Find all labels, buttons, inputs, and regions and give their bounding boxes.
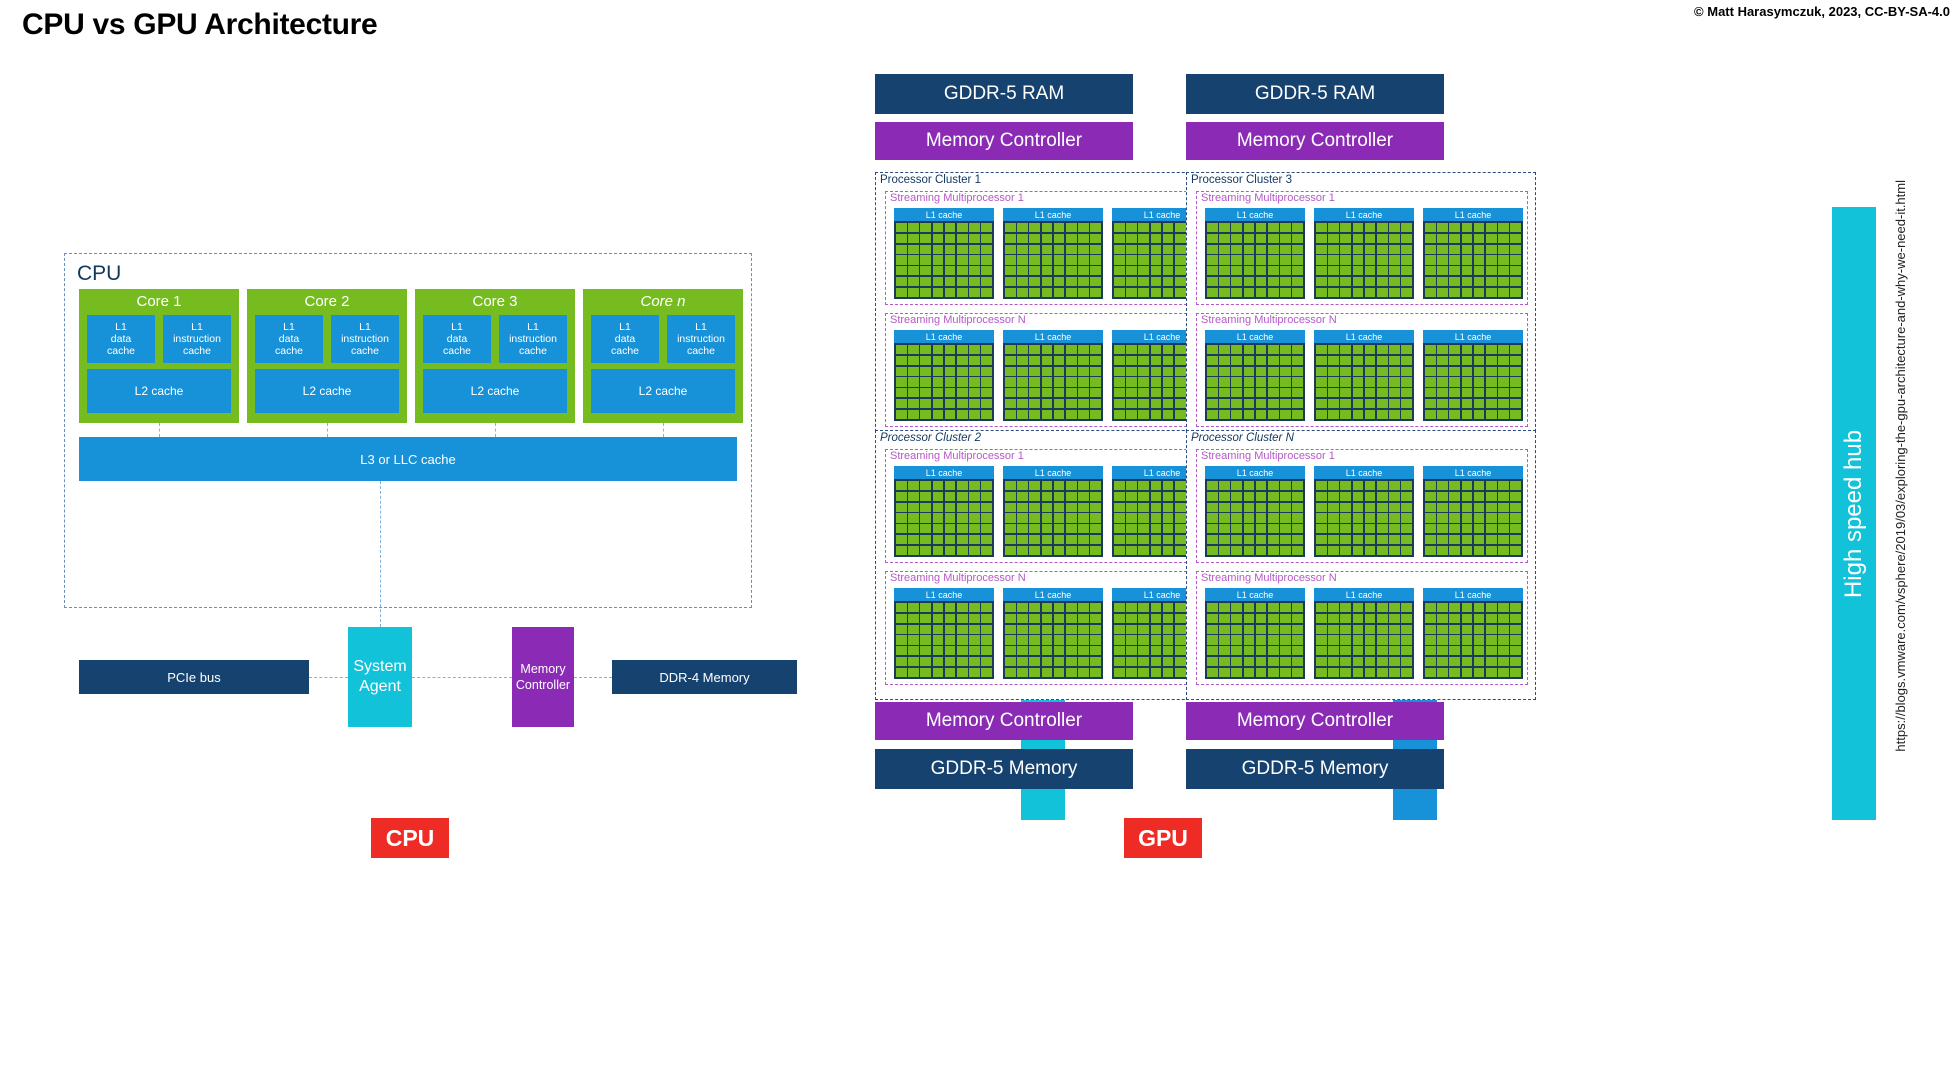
gpu-core-cell: [933, 603, 944, 612]
gpu-core-cell: [1175, 603, 1186, 612]
gpu-core-cell: [1316, 503, 1327, 512]
cpu-l3-to-agent-connector: [380, 481, 381, 627]
gpu-core-cell: [920, 388, 931, 397]
gpu-core-cell: [1449, 513, 1460, 522]
gpu-core-cell: [1280, 614, 1291, 623]
gpu-core-cell: [1401, 513, 1412, 522]
gpu-core-cell: [1268, 377, 1279, 386]
gpu-core-cell: [1316, 492, 1327, 501]
gpu-core-cell: [1207, 345, 1218, 354]
gpu-core-cell: [1231, 546, 1242, 555]
gpu-core-cell: [1138, 513, 1149, 522]
gpu-core-cell: [1219, 367, 1230, 376]
gpu-core-cell: [1126, 245, 1137, 254]
gpu-core-cell: [1510, 399, 1521, 408]
gpu-core-cell: [1029, 646, 1040, 655]
gpu-core-cell: [1042, 524, 1053, 533]
gpu-core-cell: [1042, 288, 1053, 297]
gpu-core-cell: [1042, 377, 1053, 386]
gpu-core-cell: [957, 513, 968, 522]
gpu-core-cell: [1138, 266, 1149, 275]
gpu-core-cell: [896, 603, 907, 612]
gpu-core-cell: [1029, 245, 1040, 254]
gpu-core-cell: [1054, 277, 1065, 286]
gpu-core-cell: [969, 234, 980, 243]
gpu-core-cell: [1280, 245, 1291, 254]
gpu-core-cell: [1462, 367, 1473, 376]
gpu-core-cell: [1090, 614, 1101, 623]
gpu-core-cell: [1268, 614, 1279, 623]
gpu-core-cell: [1151, 399, 1162, 408]
gpu-core-cell: [1126, 399, 1137, 408]
gpu-core-cell: [1231, 635, 1242, 644]
gpu-core-cell: [1231, 614, 1242, 623]
gpu-core-cell: [1090, 288, 1101, 297]
gpu-core-cell: [1244, 614, 1255, 623]
gpu-core-cell: [1340, 481, 1351, 490]
gpu-core-cell: [1138, 614, 1149, 623]
gpu-core-cell: [1138, 356, 1149, 365]
gpu-core-cell: [1353, 388, 1364, 397]
gpu-core-cell: [1017, 524, 1028, 533]
gpu-core-cell: [1256, 277, 1267, 286]
gpu-core-cell: [1328, 255, 1339, 264]
gpu-core-cell: [1437, 410, 1448, 419]
gpu-core-cell: [1316, 345, 1327, 354]
gpu-core-cell: [1090, 255, 1101, 264]
page-title: CPU vs GPU Architecture: [22, 8, 377, 42]
gpu-core-cell: [908, 657, 919, 666]
gpu-core-cell: [1126, 223, 1137, 232]
gpu-core-cell: [945, 635, 956, 644]
gpu-core-cell: [908, 481, 919, 490]
gpu-core-cell: [1437, 234, 1448, 243]
gpu-core-cell: [969, 492, 980, 501]
gpu-core-cell: [1353, 614, 1364, 623]
gpu-l1-cache: L1 cache: [1423, 466, 1523, 479]
gpu-core-cell: [1078, 234, 1089, 243]
gpu-core-cell: [920, 513, 931, 522]
gpu-core-cell: [1219, 399, 1230, 408]
gpu-core-cell: [1244, 245, 1255, 254]
gpu-core-cell: [1389, 245, 1400, 254]
gpu-core-cell: [1114, 399, 1125, 408]
gpu-streaming-multiprocessor-1: Streaming Multiprocessor 1L1 cacheL1 cac…: [885, 449, 1217, 563]
gpu-core-cell: [1175, 277, 1186, 286]
gpu-core-cell: [957, 367, 968, 376]
gpu-streaming-multiprocessor-1: Streaming Multiprocessor 1L1 cacheL1 cac…: [1196, 191, 1528, 305]
gpu-l1-cache: L1 cache: [1003, 588, 1103, 601]
gpu-core-cell: [1090, 277, 1101, 286]
gpu-core-cell: [945, 503, 956, 512]
gpu-core-cell: [1042, 535, 1053, 544]
gpu-core-cell: [1078, 266, 1089, 275]
gpu-core-block: L1 cache: [1003, 208, 1103, 299]
gpu-core-cell: [1151, 223, 1162, 232]
gpu-core-cell: [1005, 524, 1016, 533]
gpu-core-cell: [1353, 668, 1364, 677]
gpu-core-cell: [1163, 503, 1174, 512]
gpu-core-cell: [1498, 503, 1509, 512]
gpu-cluster-label: Processor Cluster N: [1191, 432, 1294, 444]
gpu-core-cell: [1268, 492, 1279, 501]
gpu-core-cell: [920, 410, 931, 419]
gpu-core-cell: [1151, 614, 1162, 623]
gpu-core-cell: [1207, 266, 1218, 275]
gpu-core-cell: [1389, 503, 1400, 512]
gpu-core-cell: [1401, 625, 1412, 634]
gpu-core-cell: [1268, 367, 1279, 376]
gpu-core-cell: [1114, 277, 1125, 286]
gpu-core-cell: [1328, 377, 1339, 386]
gpu-core-cell: [1231, 625, 1242, 634]
gpu-core-cell: [1256, 657, 1267, 666]
gpu-core-cell: [1114, 503, 1125, 512]
gpu-sm-label: Streaming Multiprocessor 1: [890, 450, 1024, 462]
gpu-core-cell: [1090, 513, 1101, 522]
gpu-core-cell: [1449, 503, 1460, 512]
gpu-core-cell: [1340, 234, 1351, 243]
gpu-core-cell: [1090, 234, 1101, 243]
gpu-core-cell: [1292, 277, 1303, 286]
gpu-core-cell: [1114, 646, 1125, 655]
gpu-core-cell: [1175, 535, 1186, 544]
gpu-cluster-label: Processor Cluster 2: [880, 432, 981, 444]
gpu-core-cell: [1449, 255, 1460, 264]
gpu-core-cell: [1017, 614, 1028, 623]
gpu-core-cell: [1377, 657, 1388, 666]
gpu-core-cell: [1510, 245, 1521, 254]
gpu-core-cell: [908, 345, 919, 354]
gpu-core-cell: [957, 546, 968, 555]
gpu-core-cell: [1486, 524, 1497, 533]
gpu-core-cell: [1486, 614, 1497, 623]
gpu-core-cell: [1449, 288, 1460, 297]
gpu-core-cell: [1498, 266, 1509, 275]
gpu-core-grid: [1003, 221, 1103, 299]
gpu-core-cell: [1449, 388, 1460, 397]
gpu-core-cell: [1029, 492, 1040, 501]
gpu-core-cell: [1486, 513, 1497, 522]
gpu-core-cell: [1126, 524, 1137, 533]
gpu-core-cell: [1005, 535, 1016, 544]
gpu-core-cell: [1401, 603, 1412, 612]
gpu-core-cell: [1486, 668, 1497, 677]
gpu-core-cell: [1401, 245, 1412, 254]
gpu-core-cell: [896, 266, 907, 275]
gpu-core-cell: [1498, 223, 1509, 232]
gpu-core-cell: [1401, 657, 1412, 666]
gpu-core-cell: [1462, 625, 1473, 634]
gpu-core-cell: [1151, 277, 1162, 286]
gpu-core-cell: [1029, 535, 1040, 544]
gpu-core-cell: [1292, 503, 1303, 512]
gpu-core-cell: [1078, 513, 1089, 522]
gpu-core-cell: [1449, 603, 1460, 612]
gpu-core-cell: [1090, 377, 1101, 386]
gpu-core-cell: [1219, 410, 1230, 419]
gpu-core-cell: [1042, 614, 1053, 623]
cpu-l1-instruction-cache: L1 instruction cache: [163, 315, 231, 363]
gpu-core-cell: [1437, 603, 1448, 612]
gpu-core-cell: [1042, 367, 1053, 376]
gpu-core-cell: [1126, 356, 1137, 365]
gpu-core-cell: [1365, 524, 1376, 533]
gpu-core-cell: [1365, 223, 1376, 232]
gpu-core-cell: [933, 410, 944, 419]
gpu-core-cell: [1066, 399, 1077, 408]
gpu-core-cell: [1017, 603, 1028, 612]
gpu-core-cell: [945, 546, 956, 555]
gpu-core-cell: [1280, 657, 1291, 666]
gpu-core-cell: [1090, 625, 1101, 634]
gpu-core-cell: [981, 410, 992, 419]
gpu-core-cell: [969, 410, 980, 419]
gpu-core-cell: [1498, 546, 1509, 555]
gpu-core-cell: [1207, 513, 1218, 522]
gpu-core-cell: [1066, 625, 1077, 634]
gpu-core-cell: [1231, 345, 1242, 354]
gpu-core-cell: [933, 668, 944, 677]
gpu-core-block: L1 cache: [1205, 330, 1305, 421]
gpu-core-cell: [1017, 625, 1028, 634]
gpu-core-cell: [1256, 513, 1267, 522]
gpu-core-cell: [1328, 234, 1339, 243]
gpu-core-cell: [1126, 288, 1137, 297]
gpu-core-grid: [1423, 479, 1523, 557]
gpu-core-block: L1 cache: [1205, 588, 1305, 679]
gpu-core-cell: [1365, 625, 1376, 634]
gpu-core-cell: [1005, 513, 1016, 522]
gpu-core-cell: [1090, 524, 1101, 533]
gpu-core-cell: [1126, 377, 1137, 386]
gpu-core-cell: [896, 535, 907, 544]
gpu-core-cell: [1163, 513, 1174, 522]
gpu-core-cell: [1268, 646, 1279, 655]
gpu-core-cell: [1389, 234, 1400, 243]
gpu-core-cell: [1268, 410, 1279, 419]
gpu-core-cell: [1365, 535, 1376, 544]
gpu-core-cell: [957, 503, 968, 512]
gpu-core-cell: [1138, 367, 1149, 376]
gpu-core-cell: [1163, 614, 1174, 623]
gpu-core-cell: [896, 367, 907, 376]
gpu-core-cell: [1510, 524, 1521, 533]
gpu-core-cell: [1510, 546, 1521, 555]
gpu-core-cell: [1474, 481, 1485, 490]
gpu-core-cell: [1005, 657, 1016, 666]
gpu-core-cell: [1365, 356, 1376, 365]
gpu-core-cell: [896, 668, 907, 677]
gpu-core-cell: [1486, 255, 1497, 264]
gpu-core-cell: [1340, 288, 1351, 297]
gpu-core-cell: [1078, 345, 1089, 354]
gpu-core-cell: [945, 410, 956, 419]
gpu-l1-cache: L1 cache: [1314, 208, 1414, 221]
gpu-core-cell: [1340, 646, 1351, 655]
gpu-core-cell: [1138, 223, 1149, 232]
gpu-core-cell: [1280, 277, 1291, 286]
gpu-core-cell: [1474, 492, 1485, 501]
gpu-core-cell: [1231, 399, 1242, 408]
gpu-core-cell: [1207, 635, 1218, 644]
gpu-core-cell: [1449, 399, 1460, 408]
gpu-core-cell: [1365, 492, 1376, 501]
gpu-core-cell: [981, 513, 992, 522]
gpu-core-cell: [896, 646, 907, 655]
gpu-core-cell: [1328, 614, 1339, 623]
gpu-core-cell: [1292, 288, 1303, 297]
gpu-core-cell: [1365, 288, 1376, 297]
gpu-core-cell: [957, 245, 968, 254]
gpu-core-cell: [1437, 223, 1448, 232]
gpu-core-cell: [1090, 492, 1101, 501]
gpu-core-cell: [1017, 255, 1028, 264]
gpu-core-cell: [920, 646, 931, 655]
gpu-core-cell: [1377, 635, 1388, 644]
gpu-streaming-multiprocessor-2: Streaming Multiprocessor NL1 cacheL1 cac…: [1196, 313, 1528, 427]
gpu-core-cell: [1340, 668, 1351, 677]
gpu-core-cell: [981, 657, 992, 666]
badge-gpu: GPU: [1124, 818, 1202, 858]
gpu-core-cell: [1268, 635, 1279, 644]
gpu-core-cell: [1498, 535, 1509, 544]
gpu-core-cell: [1163, 223, 1174, 232]
gpu-core-cell: [1498, 234, 1509, 243]
gpu-sm-label: Streaming Multiprocessor N: [1201, 314, 1337, 326]
gpu-core-grid: [1205, 479, 1305, 557]
gpu-core-cell: [1219, 513, 1230, 522]
gpu-core-cell: [1292, 266, 1303, 275]
gpu-core-block: L1 cache: [894, 208, 994, 299]
gpu-core-cell: [1029, 345, 1040, 354]
gpu-core-cell: [1280, 377, 1291, 386]
gpu-core-cell: [1042, 345, 1053, 354]
gpu-core-cell: [1510, 255, 1521, 264]
gpu-core-block: L1 cache: [1423, 466, 1523, 557]
gpu-core-block: L1 cache: [1003, 330, 1103, 421]
gpu-core-cell: [1054, 388, 1065, 397]
gpu-core-cell: [1377, 492, 1388, 501]
gpu-core-cell: [1437, 503, 1448, 512]
gpu-core-cell: [1005, 399, 1016, 408]
gpu-core-cell: [1449, 223, 1460, 232]
gpu-core-cell: [1340, 388, 1351, 397]
gpu-core-cell: [1437, 668, 1448, 677]
gpu-core-cell: [1340, 377, 1351, 386]
gpu-gddr5-memory-bottom-left: GDDR-5 Memory: [875, 749, 1133, 789]
gpu-core-cell: [908, 266, 919, 275]
gpu-core-cell: [1029, 399, 1040, 408]
gpu-core-cell: [1256, 503, 1267, 512]
gpu-core-cell: [1425, 513, 1436, 522]
gpu-core-cell: [1029, 234, 1040, 243]
gpu-core-cell: [1425, 345, 1436, 354]
gpu-core-cell: [1268, 255, 1279, 264]
gpu-core-cell: [1462, 223, 1473, 232]
gpu-core-cell: [1054, 657, 1065, 666]
gpu-core-cell: [1292, 481, 1303, 490]
gpu-core-cell: [1486, 288, 1497, 297]
gpu-core-cell: [1066, 513, 1077, 522]
gpu-core-grid: [1003, 479, 1103, 557]
gpu-core-cell: [945, 535, 956, 544]
gpu-core-cell: [1474, 410, 1485, 419]
gpu-core-cell: [1280, 603, 1291, 612]
gpu-core-cell: [1498, 288, 1509, 297]
gpu-core-cell: [1377, 377, 1388, 386]
gpu-core-grid: [1003, 343, 1103, 421]
gpu-core-cell: [1114, 524, 1125, 533]
gpu-core-cell: [933, 646, 944, 655]
gpu-core-cell: [1256, 288, 1267, 297]
gpu-core-cell: [1231, 377, 1242, 386]
gpu-core-cell: [1005, 646, 1016, 655]
gpu-core-cell: [1510, 223, 1521, 232]
gpu-core-cell: [969, 288, 980, 297]
gpu-core-cell: [1474, 657, 1485, 666]
gpu-core-cell: [1292, 356, 1303, 365]
gpu-core-cell: [1401, 410, 1412, 419]
gpu-core-cell: [1486, 492, 1497, 501]
gpu-core-cell: [1163, 668, 1174, 677]
gpu-core-cell: [945, 345, 956, 354]
gpu-core-cell: [1328, 625, 1339, 634]
gpu-core-cell: [1219, 492, 1230, 501]
gpu-core-cell: [1231, 356, 1242, 365]
gpu-core-cell: [1114, 377, 1125, 386]
gpu-core-cell: [1207, 388, 1218, 397]
gpu-core-cell: [969, 266, 980, 275]
gpu-core-cell: [1389, 277, 1400, 286]
gpu-core-cell: [1340, 546, 1351, 555]
gpu-core-cell: [1425, 223, 1436, 232]
gpu-core-cell: [1029, 603, 1040, 612]
gpu-core-cell: [1256, 524, 1267, 533]
gpu-core-cell: [945, 668, 956, 677]
gpu-core-cell: [1486, 546, 1497, 555]
gpu-core-cell: [1437, 399, 1448, 408]
cpu-bus-line: [309, 677, 348, 678]
gpu-core-cell: [1029, 223, 1040, 232]
gpu-core-cell: [1340, 535, 1351, 544]
gpu-core-cell: [920, 245, 931, 254]
gpu-core-cell: [1437, 288, 1448, 297]
gpu-core-cell: [969, 388, 980, 397]
gpu-core-cell: [1328, 356, 1339, 365]
gpu-core-cell: [1280, 524, 1291, 533]
gpu-core-cell: [969, 377, 980, 386]
cpu-core-label: Core 3: [415, 293, 575, 310]
gpu-core-cell: [1462, 277, 1473, 286]
gpu-l1-cache: L1 cache: [1314, 466, 1414, 479]
gpu-core-cell: [1268, 513, 1279, 522]
gpu-core-cell: [981, 503, 992, 512]
gpu-high-speed-hub: High speed hub: [1832, 207, 1876, 820]
gpu-core-cell: [1017, 513, 1028, 522]
gpu-core-cell: [1510, 234, 1521, 243]
gpu-core-cell: [1042, 546, 1053, 555]
gpu-core-cell: [1268, 524, 1279, 533]
gpu-core-cell: [1114, 245, 1125, 254]
gpu-core-cell: [1437, 646, 1448, 655]
gpu-core-cell: [1268, 399, 1279, 408]
gpu-core-cell: [1486, 410, 1497, 419]
gpu-core-cell: [1066, 646, 1077, 655]
gpu-core-cell: [1114, 668, 1125, 677]
gpu-core-cell: [1163, 635, 1174, 644]
gpu-core-cell: [1066, 668, 1077, 677]
